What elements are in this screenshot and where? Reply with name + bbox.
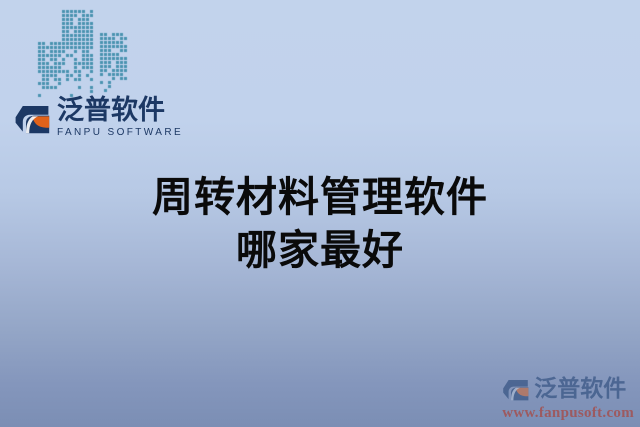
brand-wordmark: 泛普软件 FANPU SOFTWARE: [57, 97, 183, 139]
watermark-url: www.fanpusoft.com: [502, 405, 634, 422]
page-title-line-2: 哪家最好: [0, 224, 640, 277]
watermark: 泛普软件 www.fanpusoft.com: [502, 374, 634, 422]
page-title: 周转材料管理软件 哪家最好: [0, 171, 640, 278]
page-title-line-1: 周转材料管理软件: [0, 171, 640, 224]
fanpu-logo-mark-icon: [14, 98, 54, 138]
poster-canvas: 泛普软件 FANPU SOFTWARE 周转材料管理软件 哪家最好 泛普软件 w…: [0, 0, 640, 427]
brand-name-cn: 泛普软件: [57, 97, 183, 125]
brand-logo: 泛普软件 FANPU SOFTWARE: [14, 97, 183, 139]
skyline-canvas: [34, 6, 134, 98]
brand-name-en: FANPU SOFTWARE: [57, 127, 183, 139]
pixel-skyline-icon: [34, 6, 134, 98]
fanpu-logo-mark-icon: [502, 374, 532, 404]
watermark-logo-row: 泛普软件: [502, 374, 626, 404]
watermark-name-cn: 泛普软件: [534, 377, 626, 400]
